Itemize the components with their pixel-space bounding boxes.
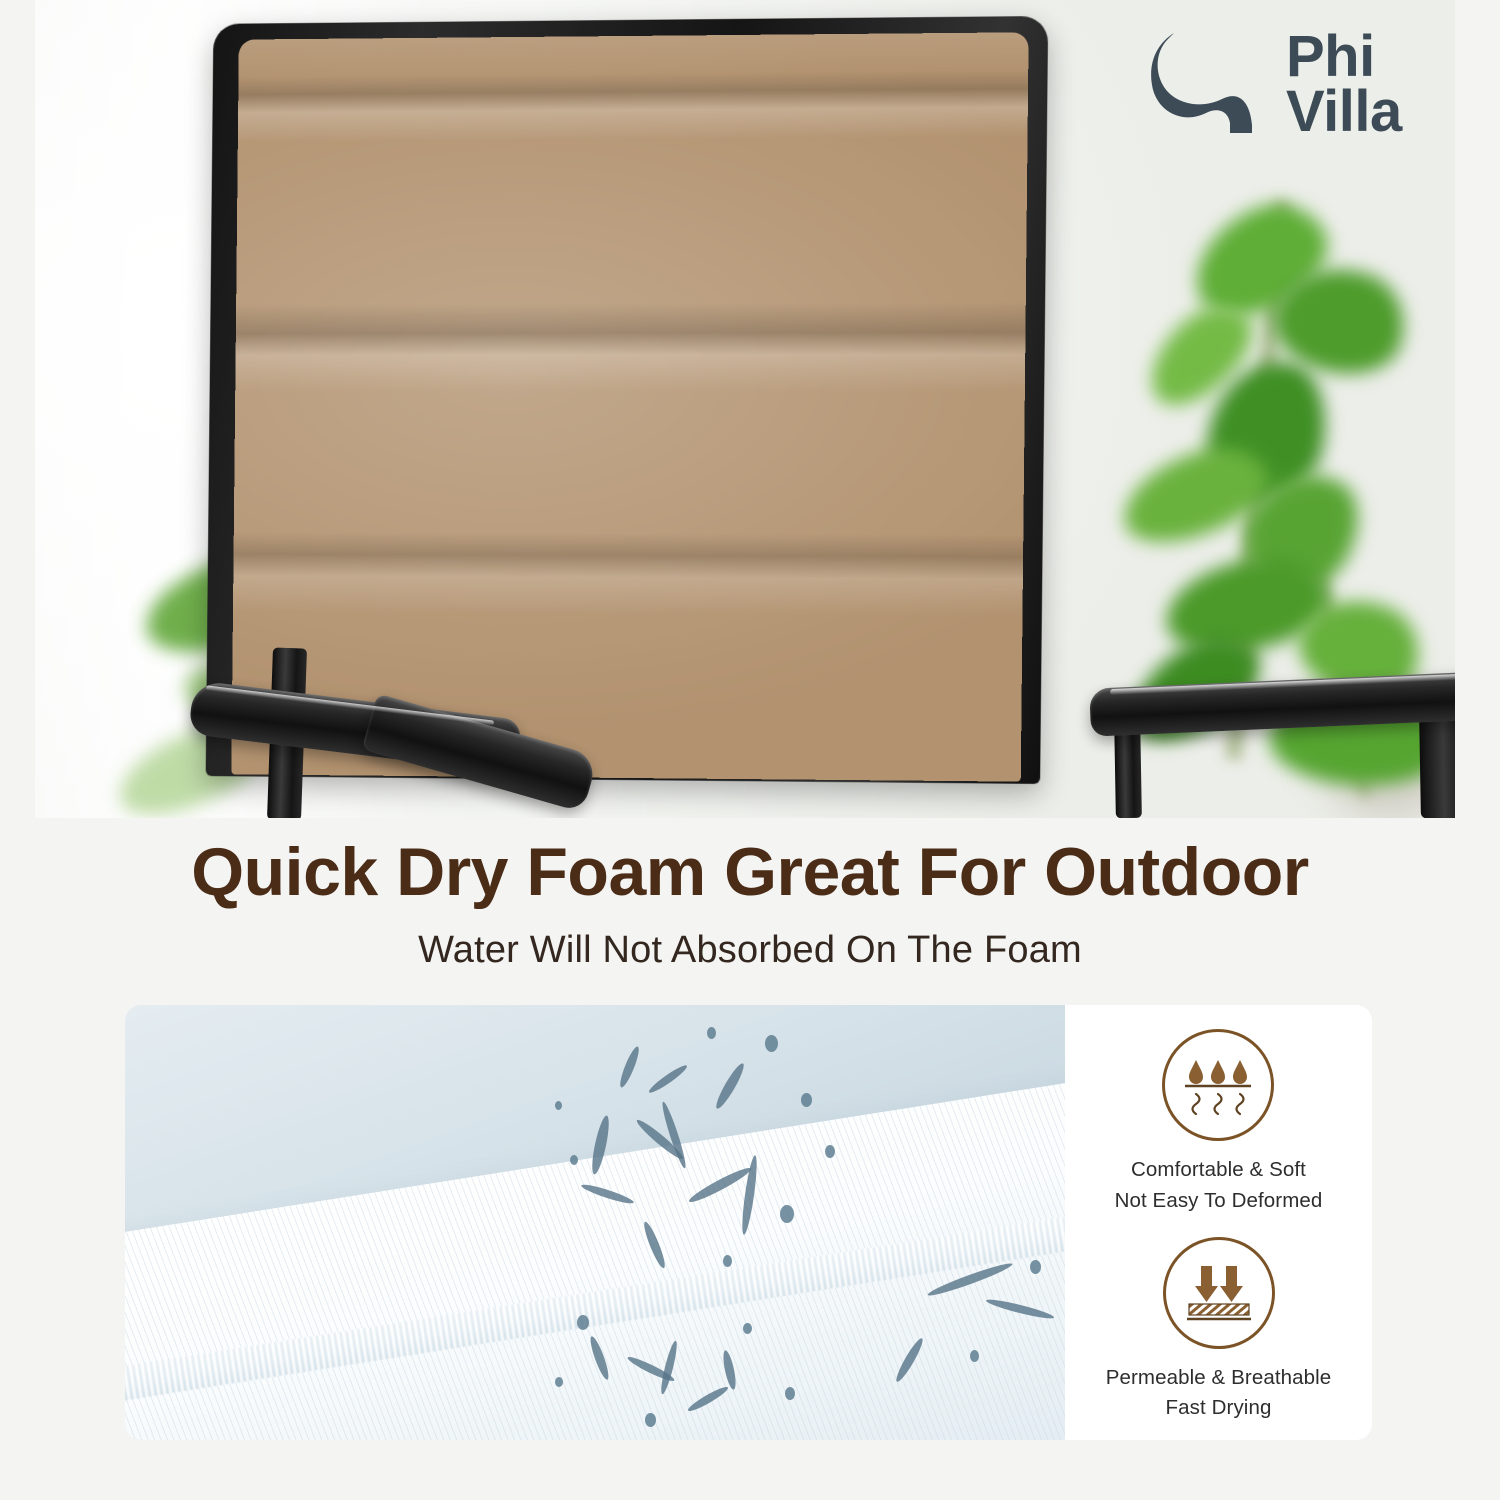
feature-permeable-breathable: Permeable & Breathable Fast Drying bbox=[1106, 1237, 1332, 1425]
feature-label-line2: Fast Drying bbox=[1166, 1393, 1272, 1424]
features-card: Comfortable & Soft Not Easy To Deformed bbox=[1065, 1005, 1372, 1440]
page-subtitle: Water Will Not Absorbed On The Foam bbox=[0, 929, 1500, 972]
water-drops-evaporating-icon bbox=[1183, 1054, 1253, 1116]
phi-villa-hook-mark bbox=[1150, 31, 1268, 139]
downward-arrows-permeable-icon bbox=[1184, 1262, 1254, 1324]
bottom-content-row: Comfortable & Soft Not Easy To Deformed bbox=[125, 1005, 1372, 1440]
feature-icon-circle bbox=[1162, 1029, 1274, 1141]
brand-name-line2: Villa bbox=[1286, 85, 1402, 140]
page-title: Quick Dry Foam Great For Outdoor bbox=[0, 836, 1500, 909]
feature-comfortable-soft: Comfortable & Soft Not Easy To Deformed bbox=[1115, 1029, 1323, 1217]
brand-name-line1: Phi bbox=[1286, 30, 1402, 85]
feature-label-line1: Permeable & Breathable bbox=[1106, 1363, 1332, 1394]
brand-logo: Phi Villa bbox=[1150, 30, 1402, 139]
feature-icon-circle bbox=[1163, 1237, 1275, 1349]
headline-block: Quick Dry Foam Great For Outdoor Water W… bbox=[0, 836, 1500, 972]
feature-label-line2: Not Easy To Deformed bbox=[1115, 1186, 1323, 1217]
chair-right-post-outer bbox=[1419, 711, 1455, 818]
feature-label-line1: Comfortable & Soft bbox=[1131, 1155, 1306, 1186]
foam-water-splash-photo bbox=[125, 1005, 1065, 1440]
chair-sling-fabric bbox=[231, 32, 1028, 781]
